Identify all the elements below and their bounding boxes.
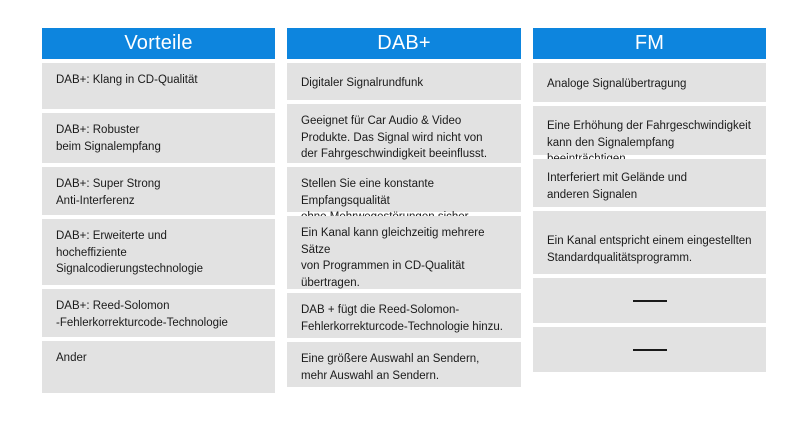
table-cell: Digitaler Signalrundfunk xyxy=(287,63,521,100)
column-dab-plus: DAB+ Digitaler Signalrundfunk Geeignet f… xyxy=(287,28,521,387)
table-cell-empty xyxy=(533,327,766,372)
table-cell: DAB+: Klang in CD-Qualität xyxy=(42,63,275,109)
em-dash-icon xyxy=(633,300,667,302)
table-cell: Eine Erhöhung der Fahrgeschwindigkeit ka… xyxy=(533,106,766,155)
table-cell: DAB+: Erweiterte und hocheffiziente Sign… xyxy=(42,219,275,285)
column-header-dab-plus: DAB+ xyxy=(287,28,521,59)
table-cell: Ein Kanal entspricht einem eingestellten… xyxy=(533,211,766,274)
table-cell: Stellen Sie eine konstante Empfangsquali… xyxy=(287,167,521,212)
comparison-table-page: Vorteile DAB+: Klang in CD-Qualität DAB+… xyxy=(0,0,800,421)
table-cell: Geeignet für Car Audio & Video Produkte.… xyxy=(287,104,521,163)
table-cell: DAB + fügt die Reed-Solomon- Fehlerkorre… xyxy=(287,293,521,338)
table-cell: Ein Kanal kann gleichzeitig mehrere Sätz… xyxy=(287,216,521,289)
column-fm: FM Analoge Signalübertragung Eine Erhöhu… xyxy=(533,28,766,372)
column-vorteile: Vorteile DAB+: Klang in CD-Qualität DAB+… xyxy=(42,28,275,393)
column-header-vorteile: Vorteile xyxy=(42,28,275,59)
table-cell: Ander xyxy=(42,341,275,393)
table-cell: Eine größere Auswahl an Sendern, mehr Au… xyxy=(287,342,521,387)
em-dash-icon xyxy=(633,349,667,351)
comparison-columns: Vorteile DAB+: Klang in CD-Qualität DAB+… xyxy=(42,28,766,393)
table-cell: DAB+: Reed-Solomon -Fehlerkorrekturcode-… xyxy=(42,289,275,337)
table-cell: DAB+: Robuster beim Signalempfang xyxy=(42,113,275,163)
table-cell: Interferiert mit Gelände und anderen Sig… xyxy=(533,159,766,207)
table-cell: Analoge Signalübertragung xyxy=(533,63,766,102)
column-header-fm: FM xyxy=(533,28,766,59)
table-cell-empty xyxy=(533,278,766,323)
table-cell: DAB+: Super Strong Anti-Interferenz xyxy=(42,167,275,215)
